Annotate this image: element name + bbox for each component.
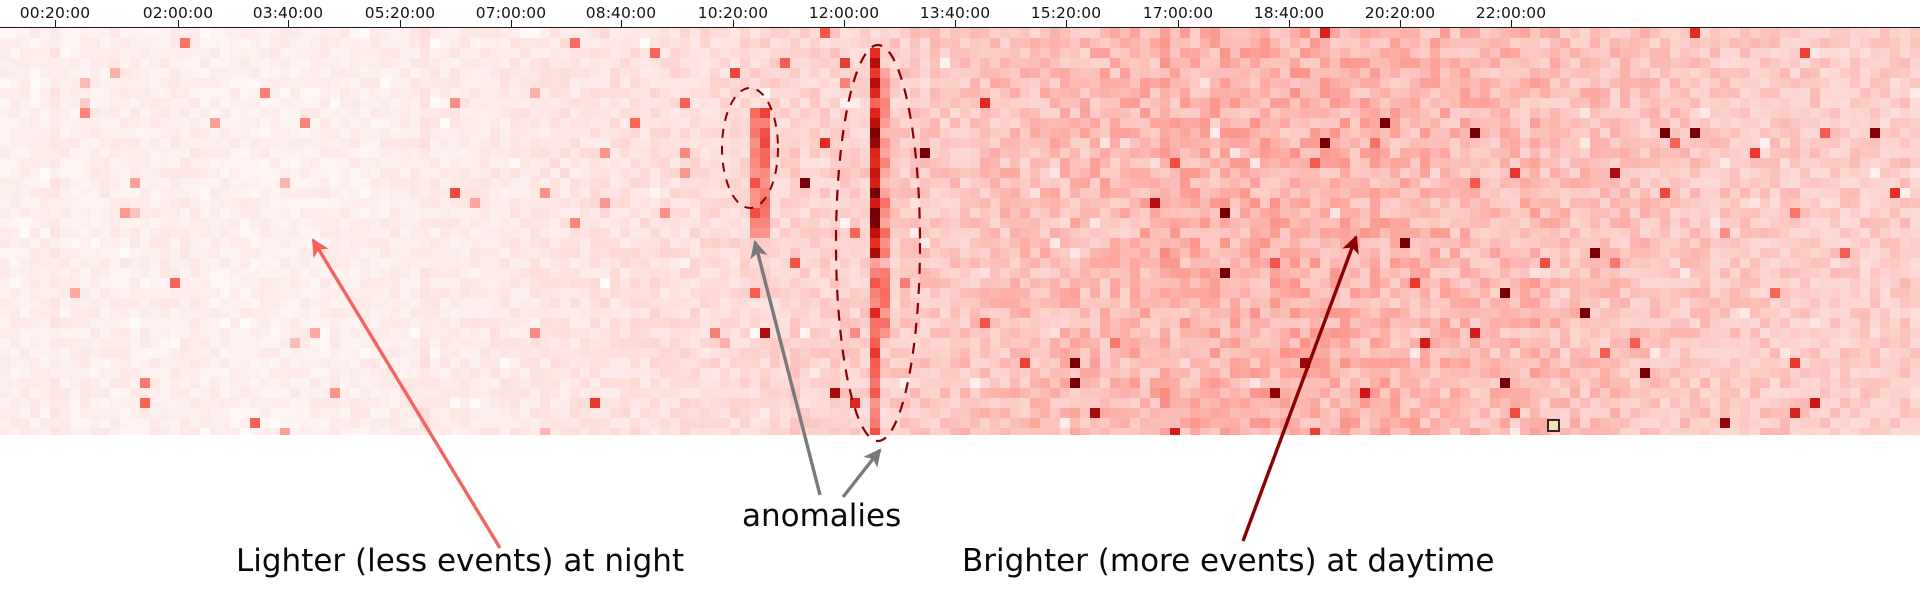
axis-tick-label: 15:20:00 [1031,4,1101,22]
heatmap-figure: 00:20:0002:00:0003:40:0005:20:0007:00:00… [0,0,1920,600]
anomaly-arrow-right [843,450,880,497]
axis-tick-label: 08:40:00 [586,4,656,22]
axis-tick-label: 00:20:00 [20,4,90,22]
axis-tick-label: 22:00:00 [1476,4,1546,22]
axis-tick-label: 02:00:00 [143,4,213,22]
heatmap-plot-area[interactable] [0,28,1920,435]
axis-tick-label: 10:20:00 [698,4,768,22]
heatmap-canvas[interactable] [0,28,1920,435]
axis-tick-label: 03:40:00 [253,4,323,22]
axis-tick-label: 12:00:00 [809,4,879,22]
axis-tick-label: 07:00:00 [476,4,546,22]
annotation-label-daytime: Brighter (more events) at daytime [962,543,1494,579]
annotation-label-anomalies: anomalies [742,498,901,534]
time-axis: 00:20:0002:00:0003:40:0005:20:0007:00:00… [0,0,1920,28]
selected-cell-marker[interactable] [1547,419,1560,432]
axis-tick-label: 13:40:00 [920,4,990,22]
annotation-label-night: Lighter (less events) at night [236,543,684,579]
axis-tick-label: 18:40:00 [1254,4,1324,22]
axis-tick-label: 17:00:00 [1143,4,1213,22]
axis-tick-label: 05:20:00 [365,4,435,22]
axis-tick-label: 20:20:00 [1365,4,1435,22]
